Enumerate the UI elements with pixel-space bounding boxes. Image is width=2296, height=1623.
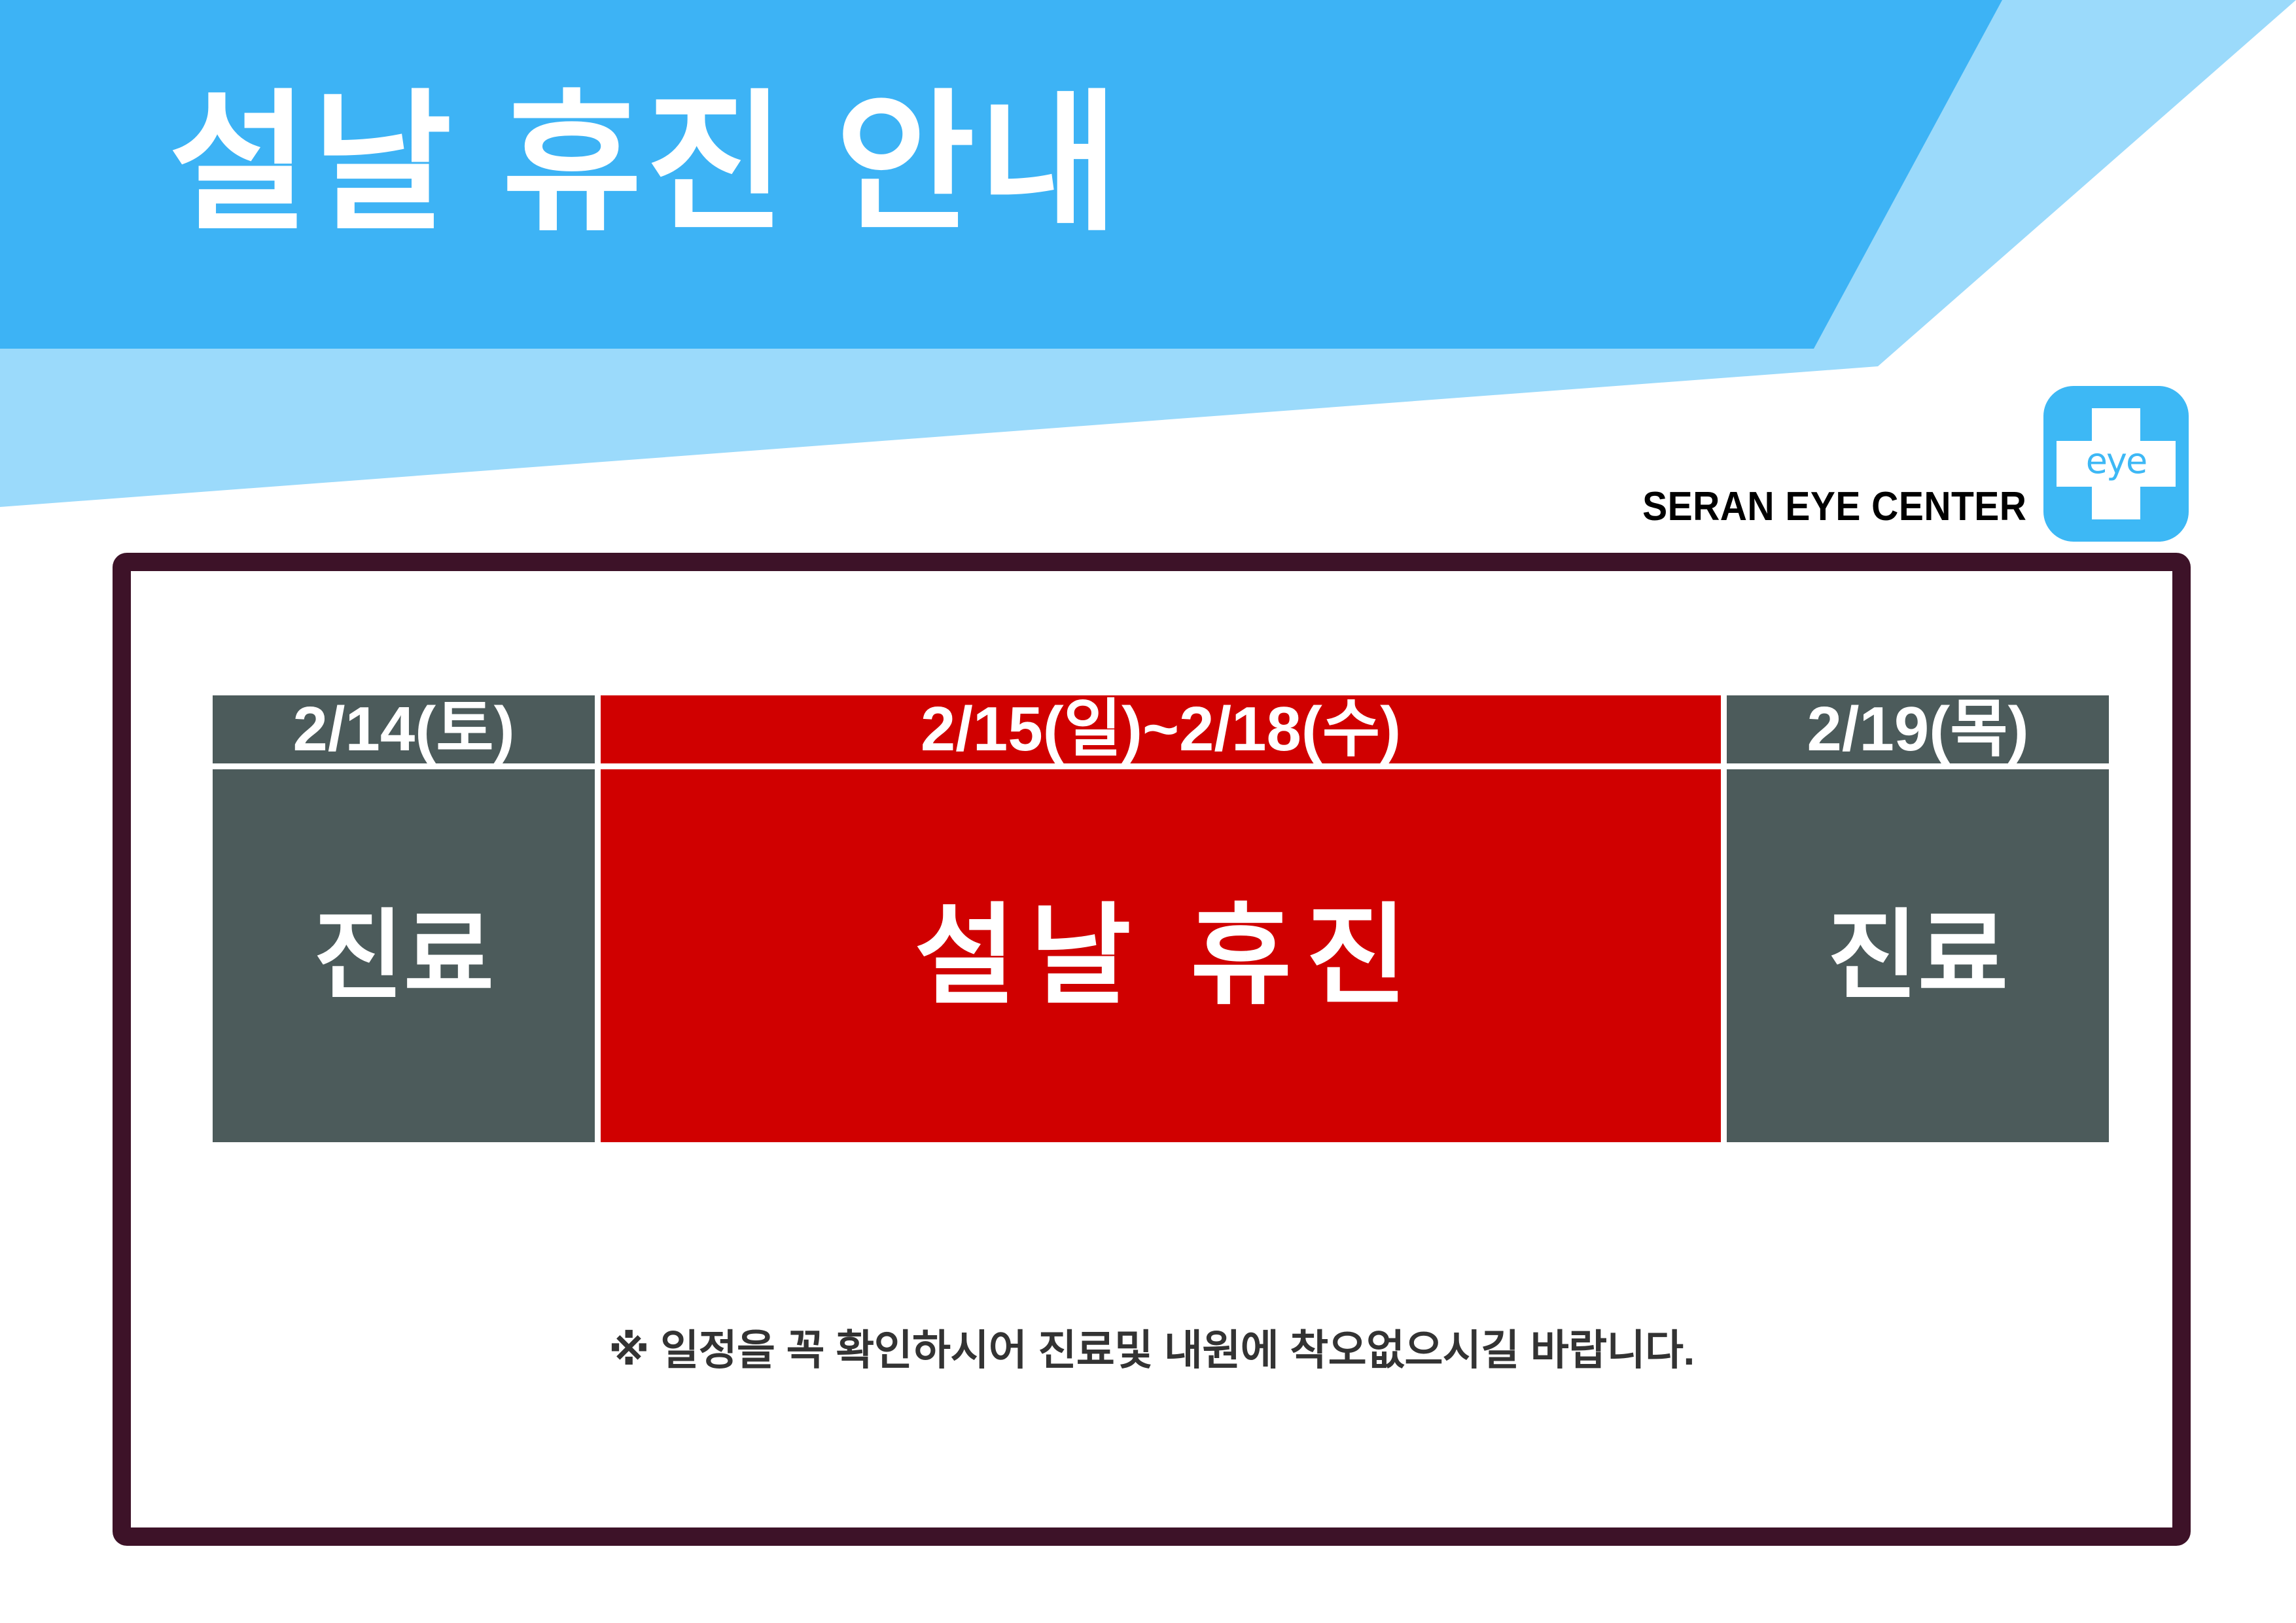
status-cell-holiday: 설날 휴진 [601,769,1721,1142]
clinic-name: SERAN EYE CENTER [1642,483,2026,542]
header-date-holiday: 2/15(일)~2/18(수) [921,698,1401,761]
eye-cross-logo-icon: eye [2043,386,2189,542]
holiday-notice-poster: 설날 휴진 안내 SERAN EYE CENTER eye 2/14(토) 2/… [0,0,2296,1623]
schedule-table: 2/14(토) 2/15(일)~2/18(수) 2/19(목) 진료 설날 휴진… [213,695,2109,1142]
header-cell-day3: 2/19(목) [1727,695,2109,763]
schedule-card: 2/14(토) 2/15(일)~2/18(수) 2/19(목) 진료 설날 휴진… [113,553,2191,1546]
header-cell-day1: 2/14(토) [213,695,595,763]
table-body-row: 진료 설날 휴진 진료 [213,769,2109,1142]
status-cell-day3: 진료 [1727,769,2109,1142]
status-text-day3: 진료 [1828,907,2008,1005]
page-title: 설날 휴진 안내 [169,82,1123,247]
brand-block: SERAN EYE CENTER eye [1609,386,2189,542]
footnote-text: ※ 일정을 꼭 확인하시어 진료및 내원에 착오없으시길 바랍니다. [131,1317,2172,1377]
logo-eye-text: eye [2043,444,2189,479]
header-date-day3: 2/19(목) [1807,698,2028,761]
status-cell-day1: 진료 [213,769,595,1142]
status-text-holiday: 설날 휴진 [900,901,1422,1011]
header-cell-holiday: 2/15(일)~2/18(수) [601,695,1721,763]
table-header-row: 2/14(토) 2/15(일)~2/18(수) 2/19(목) [213,695,2109,763]
header-date-day1: 2/14(토) [292,698,514,761]
status-text-day1: 진료 [313,907,494,1005]
